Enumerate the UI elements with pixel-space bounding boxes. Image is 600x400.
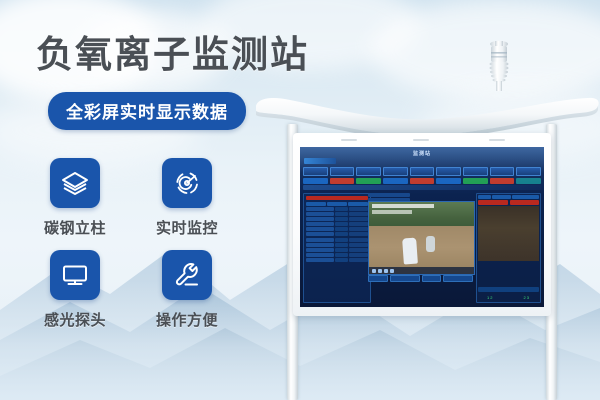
- feature-icon-tile: [50, 158, 100, 208]
- feature-row: 碳钢立柱 实: [46, 158, 256, 238]
- screen-logo: [304, 158, 336, 164]
- feature-label: 实时监控: [156, 217, 218, 238]
- video-subject: [426, 236, 435, 252]
- table-row[interactable]: [306, 243, 368, 247]
- screen-title: 监测站: [300, 150, 544, 157]
- feature-item-light-sensor[interactable]: 感光探头: [46, 250, 104, 330]
- display-bezel: 监测站: [293, 133, 551, 316]
- toolbar-label: [368, 275, 388, 282]
- right-info-panel[interactable]: 12 23: [476, 193, 541, 303]
- feature-label: 碳钢立柱: [44, 217, 106, 238]
- pause-icon[interactable]: [378, 269, 382, 273]
- table-row[interactable]: [306, 227, 368, 231]
- panel-status-value: 12: [487, 295, 493, 300]
- feature-item-steel-post[interactable]: 碳钢立柱: [46, 158, 104, 238]
- table-row[interactable]: [306, 222, 368, 226]
- panel-footer-bar: [478, 287, 539, 292]
- table-row[interactable]: [306, 253, 368, 257]
- dashboard-screen[interactable]: 监测站: [300, 147, 544, 307]
- table-row[interactable]: [306, 232, 368, 236]
- kpi-card[interactable]: [410, 167, 435, 184]
- kpi-row: [303, 167, 541, 184]
- kpi-card[interactable]: [330, 167, 355, 184]
- toolbar-select[interactable]: [390, 275, 420, 282]
- kpi-card[interactable]: [436, 167, 461, 184]
- toolbar-select[interactable]: [443, 275, 473, 282]
- divider-bar: [303, 185, 541, 190]
- video-controls[interactable]: [369, 267, 474, 274]
- vent-mark: [341, 139, 357, 141]
- promo-banner: 负氧离子监测站 全彩屏实时显示数据 碳钢立柱: [0, 0, 600, 400]
- kpi-card[interactable]: [383, 167, 408, 184]
- layers-icon: [60, 168, 90, 198]
- table-row[interactable]: [306, 217, 368, 221]
- video-osd-text: [372, 210, 412, 214]
- kpi-card[interactable]: [463, 167, 488, 184]
- video-feed[interactable]: [368, 201, 475, 275]
- monitor-icon: [60, 260, 90, 290]
- feature-label: 操作方便: [156, 309, 218, 330]
- video-subject: [402, 238, 418, 265]
- play-icon[interactable]: [372, 269, 376, 273]
- panel-photo: [478, 206, 539, 261]
- feature-label: 感光探头: [44, 309, 106, 330]
- kpi-card[interactable]: [303, 167, 328, 184]
- table-row[interactable]: [306, 238, 368, 242]
- video-toolbar[interactable]: [368, 275, 473, 282]
- table-row[interactable]: [306, 212, 368, 216]
- vent-mark: [489, 139, 505, 141]
- kpi-card[interactable]: [516, 167, 541, 184]
- feature-icon-tile: [50, 250, 100, 300]
- panel-status-value: 23: [524, 295, 530, 300]
- subtitle-badge: 全彩屏实时显示数据: [48, 92, 246, 130]
- radar-icon: [172, 168, 202, 198]
- feature-row: 感光探头 操作方便: [46, 250, 256, 330]
- vent-mark: [413, 139, 429, 141]
- table-row[interactable]: [306, 207, 368, 211]
- panel-alert-row: [477, 200, 540, 206]
- table-row[interactable]: [306, 258, 368, 262]
- kpi-card[interactable]: [490, 167, 515, 184]
- toolbar-label: [422, 275, 442, 282]
- table-alert-bar: [306, 196, 368, 200]
- feature-icon-tile: [162, 158, 212, 208]
- feature-icon-tile: [162, 250, 212, 300]
- feature-grid: 碳钢立柱 实: [46, 158, 256, 342]
- video-osd-text: [372, 204, 434, 208]
- snapshot-icon[interactable]: [384, 269, 388, 273]
- monitoring-station: 监测站: [250, 46, 600, 400]
- wrench-icon: [172, 260, 202, 290]
- table-header-row: [306, 202, 368, 206]
- data-table-panel[interactable]: [303, 193, 371, 303]
- feature-item-easy-operation[interactable]: 操作方便: [158, 250, 216, 330]
- table-row[interactable]: [306, 248, 368, 252]
- kpi-card[interactable]: [356, 167, 381, 184]
- feature-item-realtime-monitor[interactable]: 实时监控: [158, 158, 216, 238]
- fullscreen-icon[interactable]: [390, 269, 394, 273]
